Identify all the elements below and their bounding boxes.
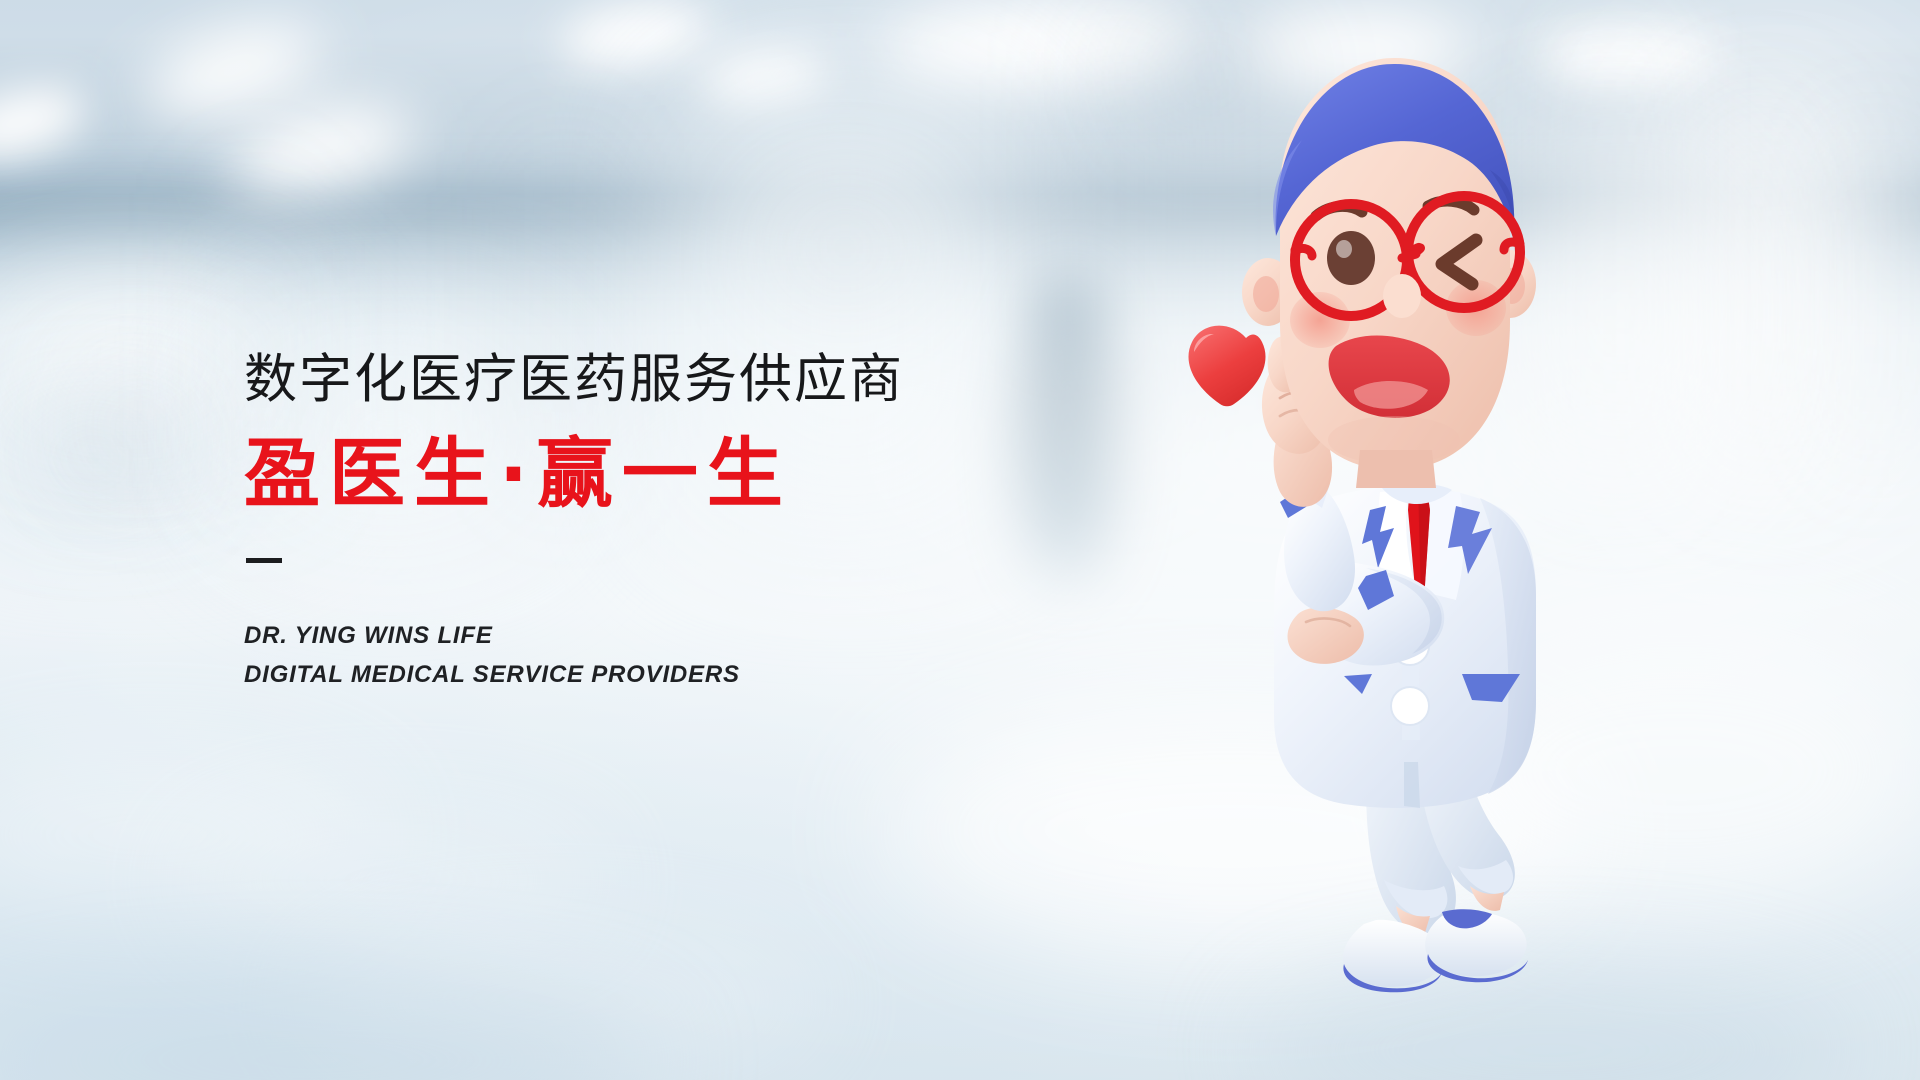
english-subtitle-line: DIGITAL MEDICAL SERVICE PROVIDERS <box>244 656 1144 695</box>
english-subtitle-list: DR. YING WINS LIFE DIGITAL MEDICAL SERVI… <box>244 617 1144 695</box>
doctor-mascot-illustration <box>1180 40 1640 1060</box>
divider-rule <box>246 558 282 563</box>
english-subtitle-line: DR. YING WINS LIFE <box>244 617 1144 656</box>
hero-copy-block: 数字化医疗医药服务供应商 盈医生·赢一生 DR. YING WINS LIFE … <box>244 352 1144 695</box>
hero-banner: 数字化医疗医药服务供应商 盈医生·赢一生 DR. YING WINS LIFE … <box>0 0 1920 1080</box>
floating-heart-icon <box>1188 326 1265 407</box>
page-title-slogan-cn: 盈医生·赢一生 <box>244 434 1144 514</box>
page-subheading-cn: 数字化医疗医药服务供应商 <box>244 352 1144 408</box>
